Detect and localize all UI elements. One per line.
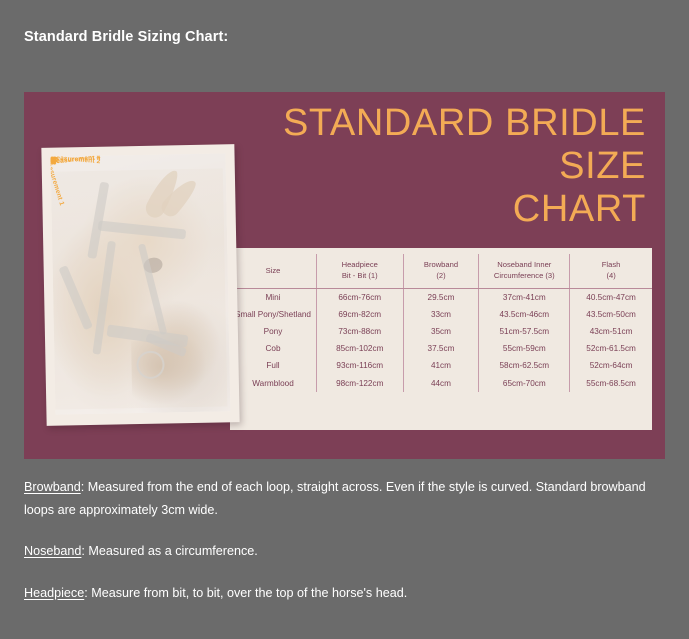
header-line-1: Browband [424, 260, 458, 269]
cell-flash: 52cm-64cm [570, 358, 652, 375]
note-term: Browband [24, 480, 81, 494]
sizing-table-body: Mini 66cm-76cm 29.5cm 37cm-41cm 40.5cm-4… [230, 289, 652, 393]
table-header-row: Size Headpiece Bit - Bit (1) Browband (2… [230, 254, 652, 289]
table-row: Warmblood 98cm-122cm 44cm 65cm-70cm 55cm… [230, 375, 652, 392]
table-row: Pony 73cm-88cm 35cm 51cm-57.5cm 43cm-51c… [230, 323, 652, 340]
column-header-headpiece: Headpiece Bit - Bit (1) [317, 254, 404, 289]
cell-size: Mini [230, 289, 317, 307]
chart-title-line-1: STANDARD BRIDLE [226, 102, 646, 145]
cell-flash: 52cm-61.5cm [570, 341, 652, 358]
cell-flash: 43.5cm-50cm [570, 306, 652, 323]
cell-flash: 43cm-51cm [570, 323, 652, 340]
cell-noseband: 37cm-41cm [479, 289, 570, 307]
note-text: : Measured as a circumference. [81, 544, 257, 558]
header-line-1: Size [266, 266, 281, 275]
note-browband: Browband: Measured from the end of each … [24, 476, 654, 521]
cell-noseband: 65cm-70cm [479, 375, 570, 392]
header-line-2: Circumference (3) [481, 270, 567, 281]
table-row: Cob 85cm-102cm 37.5cm 55cm-59cm 52cm-61.… [230, 341, 652, 358]
note-text: : Measure from bit, to bit, over the top… [84, 586, 407, 600]
table-row: Mini 66cm-76cm 29.5cm 37cm-41cm 40.5cm-4… [230, 289, 652, 307]
note-text: : Measured from the end of each loop, st… [24, 480, 646, 517]
cell-headpiece: 93cm-116cm [317, 358, 404, 375]
table-row: Full 93cm-116cm 41cm 58cm-62.5cm 52cm-64… [230, 358, 652, 375]
header-line-1: Noseband Inner [497, 260, 551, 269]
cell-noseband: 55cm-59cm [479, 341, 570, 358]
chart-title: STANDARD BRIDLE SIZE CHART [226, 102, 646, 231]
cell-headpiece: 98cm-122cm [317, 375, 404, 392]
note-term: Headpiece [24, 586, 84, 600]
note-term: Noseband [24, 544, 81, 558]
cell-size: Warmblood [230, 375, 317, 392]
cell-headpiece: 69cm-82cm [317, 306, 404, 323]
chart-title-line-3: CHART [226, 188, 646, 231]
cell-browband: 29.5cm [403, 289, 479, 307]
sizing-table-card: Size Headpiece Bit - Bit (1) Browband (2… [230, 248, 652, 430]
cell-size: Full [230, 358, 317, 375]
cell-browband: 35cm [403, 323, 479, 340]
cell-browband: 33cm [403, 306, 479, 323]
header-line-1: Flash [602, 260, 621, 269]
cell-browband: 41cm [403, 358, 479, 375]
header-line-2: (4) [572, 270, 650, 281]
cell-browband: 37.5cm [403, 341, 479, 358]
note-headpiece: Headpiece: Measure from bit, to bit, ove… [24, 582, 654, 605]
horse-photo: Measurement 2 Measurement 1 Measurement … [51, 153, 231, 414]
cell-size: Pony [230, 323, 317, 340]
cell-size: Small Pony/Shetland [230, 306, 317, 323]
cell-noseband: 58cm-62.5cm [479, 358, 570, 375]
chart-title-line-2: SIZE [226, 145, 646, 188]
column-header-flash: Flash (4) [570, 254, 652, 289]
header-line-2: Bit - Bit (1) [319, 270, 401, 281]
cell-headpiece: 73cm-88cm [317, 323, 404, 340]
cell-flash: 40.5cm-47cm [570, 289, 652, 307]
column-header-size: Size [230, 254, 317, 289]
screenshot-root: Standard Bridle Sizing Chart: STANDARD B… [0, 0, 689, 639]
table-row: Small Pony/Shetland 69cm-82cm 33cm 43.5c… [230, 306, 652, 323]
cell-noseband: 43.5cm-46cm [479, 306, 570, 323]
cell-headpiece: 66cm-76cm [317, 289, 404, 307]
cell-flash: 55cm-68.5cm [570, 375, 652, 392]
sizing-table: Size Headpiece Bit - Bit (1) Browband (2… [230, 254, 652, 392]
cell-size: Cob [230, 341, 317, 358]
cell-noseband: 51cm-57.5cm [479, 323, 570, 340]
header-line-1: Headpiece [342, 260, 378, 269]
horse-photo-card: Measurement 2 Measurement 1 Measurement … [41, 144, 239, 426]
page-title: Standard Bridle Sizing Chart: [24, 29, 228, 45]
column-header-browband: Browband (2) [403, 254, 479, 289]
size-chart-panel: STANDARD BRIDLE SIZE CHART Size Headpiec… [24, 92, 665, 459]
measurement-notes: Browband: Measured from the end of each … [24, 476, 654, 604]
cell-headpiece: 85cm-102cm [317, 341, 404, 358]
header-line-2: (2) [406, 270, 477, 281]
note-noseband: Noseband: Measured as a circumference. [24, 540, 654, 563]
cell-browband: 44cm [403, 375, 479, 392]
column-header-noseband: Noseband Inner Circumference (3) [479, 254, 570, 289]
horse-head-illustration [51, 153, 231, 414]
